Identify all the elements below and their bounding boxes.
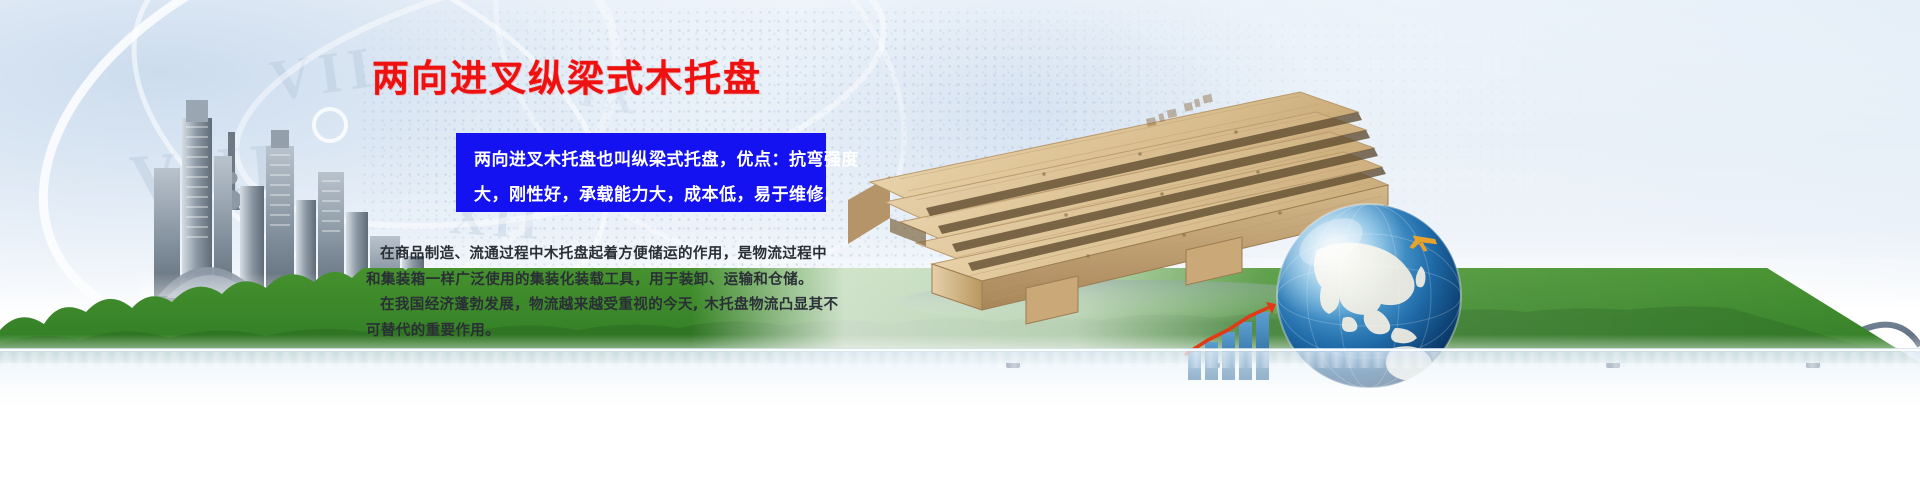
highlight-callout-box: 两向进叉木托盘也叫纵梁式托盘，优点：抗弯强度 大，刚性好，承载能力大，成本低，易… bbox=[456, 133, 826, 212]
numeral-vii: VII bbox=[266, 33, 382, 114]
bottom-fade bbox=[0, 370, 1920, 500]
globe bbox=[1265, 196, 1480, 411]
water-reflection bbox=[0, 348, 1920, 408]
numeral-viii: VIII bbox=[127, 128, 286, 217]
background-wash-right bbox=[1150, 0, 1920, 300]
description-line-3: 在我国经济蓬勃发展，物流越来越受重视的今天, 木托盘物流凸显其不 bbox=[366, 293, 866, 319]
page-title: 两向进叉纵梁式木托盘 bbox=[372, 55, 842, 103]
highlight-line-1: 两向进叉木托盘也叫纵梁式托盘，优点：抗弯强度 bbox=[474, 145, 859, 170]
wooden-pallet bbox=[830, 50, 1390, 330]
water-ripples bbox=[0, 352, 1920, 368]
highlight-line-2: 大，刚性好，承载能力大，成本低，易于维修. bbox=[474, 180, 831, 205]
tree-band bbox=[0, 268, 1920, 363]
water-horizon-line bbox=[0, 349, 1920, 351]
description-paragraph: 在商品制造、流通过程中木托盘起着方便储运的作用，是物流过程中 和集装箱一样广泛使… bbox=[366, 242, 866, 344]
description-line-4: 可替代的重要作用。 bbox=[366, 319, 866, 345]
arch-bridge bbox=[820, 258, 1920, 368]
growth-bar-chart bbox=[1180, 300, 1290, 380]
description-line-1: 在商品制造、流通过程中木托盘起着方便储运的作用，是物流过程中 bbox=[366, 242, 866, 268]
description-line-2: 和集装箱一样广泛使用的集装化装载工具，用于装卸、运输和仓储。 bbox=[366, 268, 866, 294]
product-banner: VII VIII XII IX bbox=[0, 0, 1920, 500]
dot-matrix-pattern-secondary bbox=[980, 20, 1600, 270]
